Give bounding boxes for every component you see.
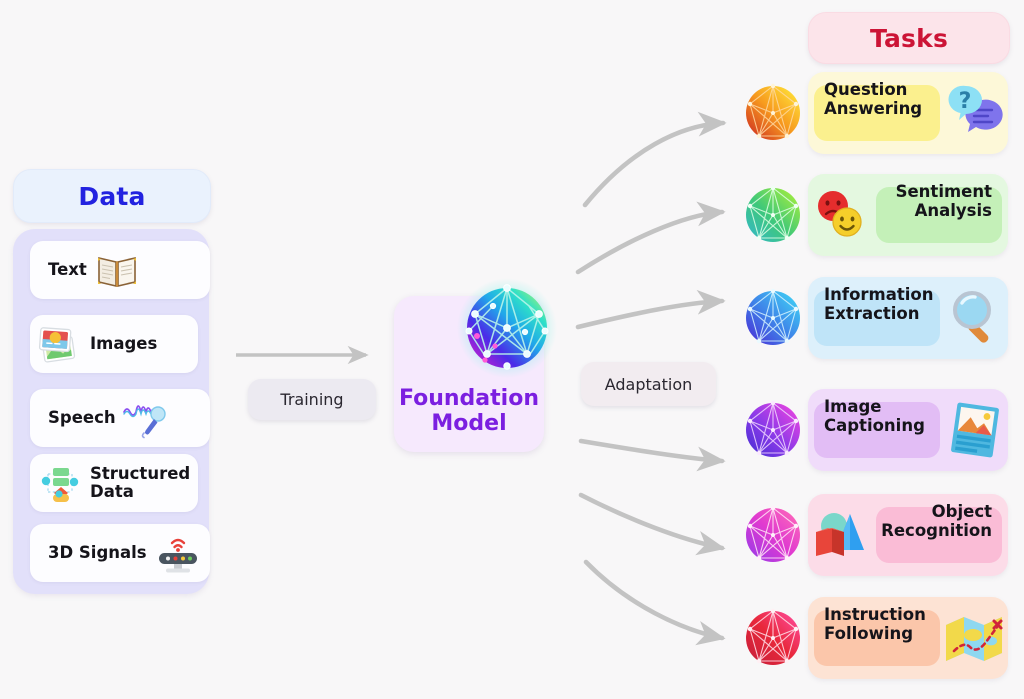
adaptation-arrow-4 <box>581 441 722 461</box>
flowchart-icon <box>36 461 84 505</box>
data-item-images[interactable]: Images <box>30 315 198 373</box>
adaptation-arrow-2 <box>578 212 722 272</box>
task-card[interactable]: Instruction Following <box>808 597 1008 679</box>
data-item-label: Structured Data <box>90 465 190 502</box>
adaptation-arrow-3 <box>578 301 722 327</box>
task-sphere-icon <box>740 605 806 671</box>
task-sphere-icon <box>740 182 806 248</box>
data-item-label: Images <box>90 335 157 353</box>
task-row[interactable]: Sentiment Analysis <box>740 174 1010 256</box>
data-panel: Text <box>13 229 209 594</box>
task-sphere-icon <box>740 285 806 351</box>
task-card[interactable]: Image Captioning <box>808 389 1008 471</box>
task-card[interactable]: Object Recognition <box>808 494 1008 576</box>
task-sphere-icon <box>740 80 806 146</box>
task-label: Question Answering <box>824 72 942 128</box>
task-label: Sentiment Analysis <box>878 174 992 230</box>
adaptation-arrow-1 <box>585 123 723 205</box>
data-item-3d-signals[interactable]: 3D Signals <box>30 524 210 582</box>
data-header: Data <box>13 169 211 223</box>
sad-happy-faces-icon <box>810 186 872 244</box>
lidar-sensor-icon <box>153 531 201 575</box>
foundation-model-sphere-icon <box>455 276 559 380</box>
task-label: Instruction Following <box>824 597 942 653</box>
magnifying-glass-icon <box>944 289 1006 347</box>
photos-icon <box>36 322 84 366</box>
task-card[interactable]: Sentiment Analysis <box>808 174 1008 256</box>
data-item-label: Text <box>48 261 87 279</box>
task-row[interactable]: Information Extraction <box>740 277 1010 359</box>
3d-shapes-icon <box>810 506 872 564</box>
data-item-text[interactable]: Text <box>30 241 210 299</box>
task-sphere-icon <box>740 502 806 568</box>
adaptation-label: Adaptation <box>581 362 716 406</box>
picture-caption-icon <box>944 401 1006 459</box>
microphone-waveform-icon <box>122 396 170 440</box>
speech-bubbles-question-icon: ? <box>944 84 1006 142</box>
task-card[interactable]: Information Extraction <box>808 277 1008 359</box>
folded-map-icon <box>944 609 1006 667</box>
adaptation-arrow-5 <box>581 495 722 548</box>
foundation-model-label: Foundation Model <box>394 386 544 436</box>
diagram-canvas: Data Text <box>0 0 1024 699</box>
svg-text:?: ? <box>959 89 972 114</box>
data-item-label: 3D Signals <box>48 544 147 562</box>
open-book-icon <box>93 248 141 292</box>
task-label: Image Captioning <box>824 389 942 445</box>
task-row[interactable]: Object Recognition <box>740 494 1010 576</box>
training-label: Training <box>248 379 376 420</box>
task-row[interactable]: Image Captioning <box>740 389 1010 471</box>
adaptation-arrow-6 <box>586 562 722 638</box>
task-label: Object Recognition <box>878 494 992 550</box>
task-row[interactable]: Instruction Following <box>740 597 1010 679</box>
task-sphere-icon <box>740 397 806 463</box>
task-row[interactable]: Question Answering ? <box>740 72 1010 154</box>
data-item-speech[interactable]: Speech <box>30 389 210 447</box>
task-card[interactable]: Question Answering ? <box>808 72 1008 154</box>
task-label: Information Extraction <box>824 277 942 333</box>
data-item-label: Speech <box>48 409 116 427</box>
data-item-structured-data[interactable]: Structured Data <box>30 454 198 512</box>
tasks-header: Tasks <box>808 12 1010 64</box>
